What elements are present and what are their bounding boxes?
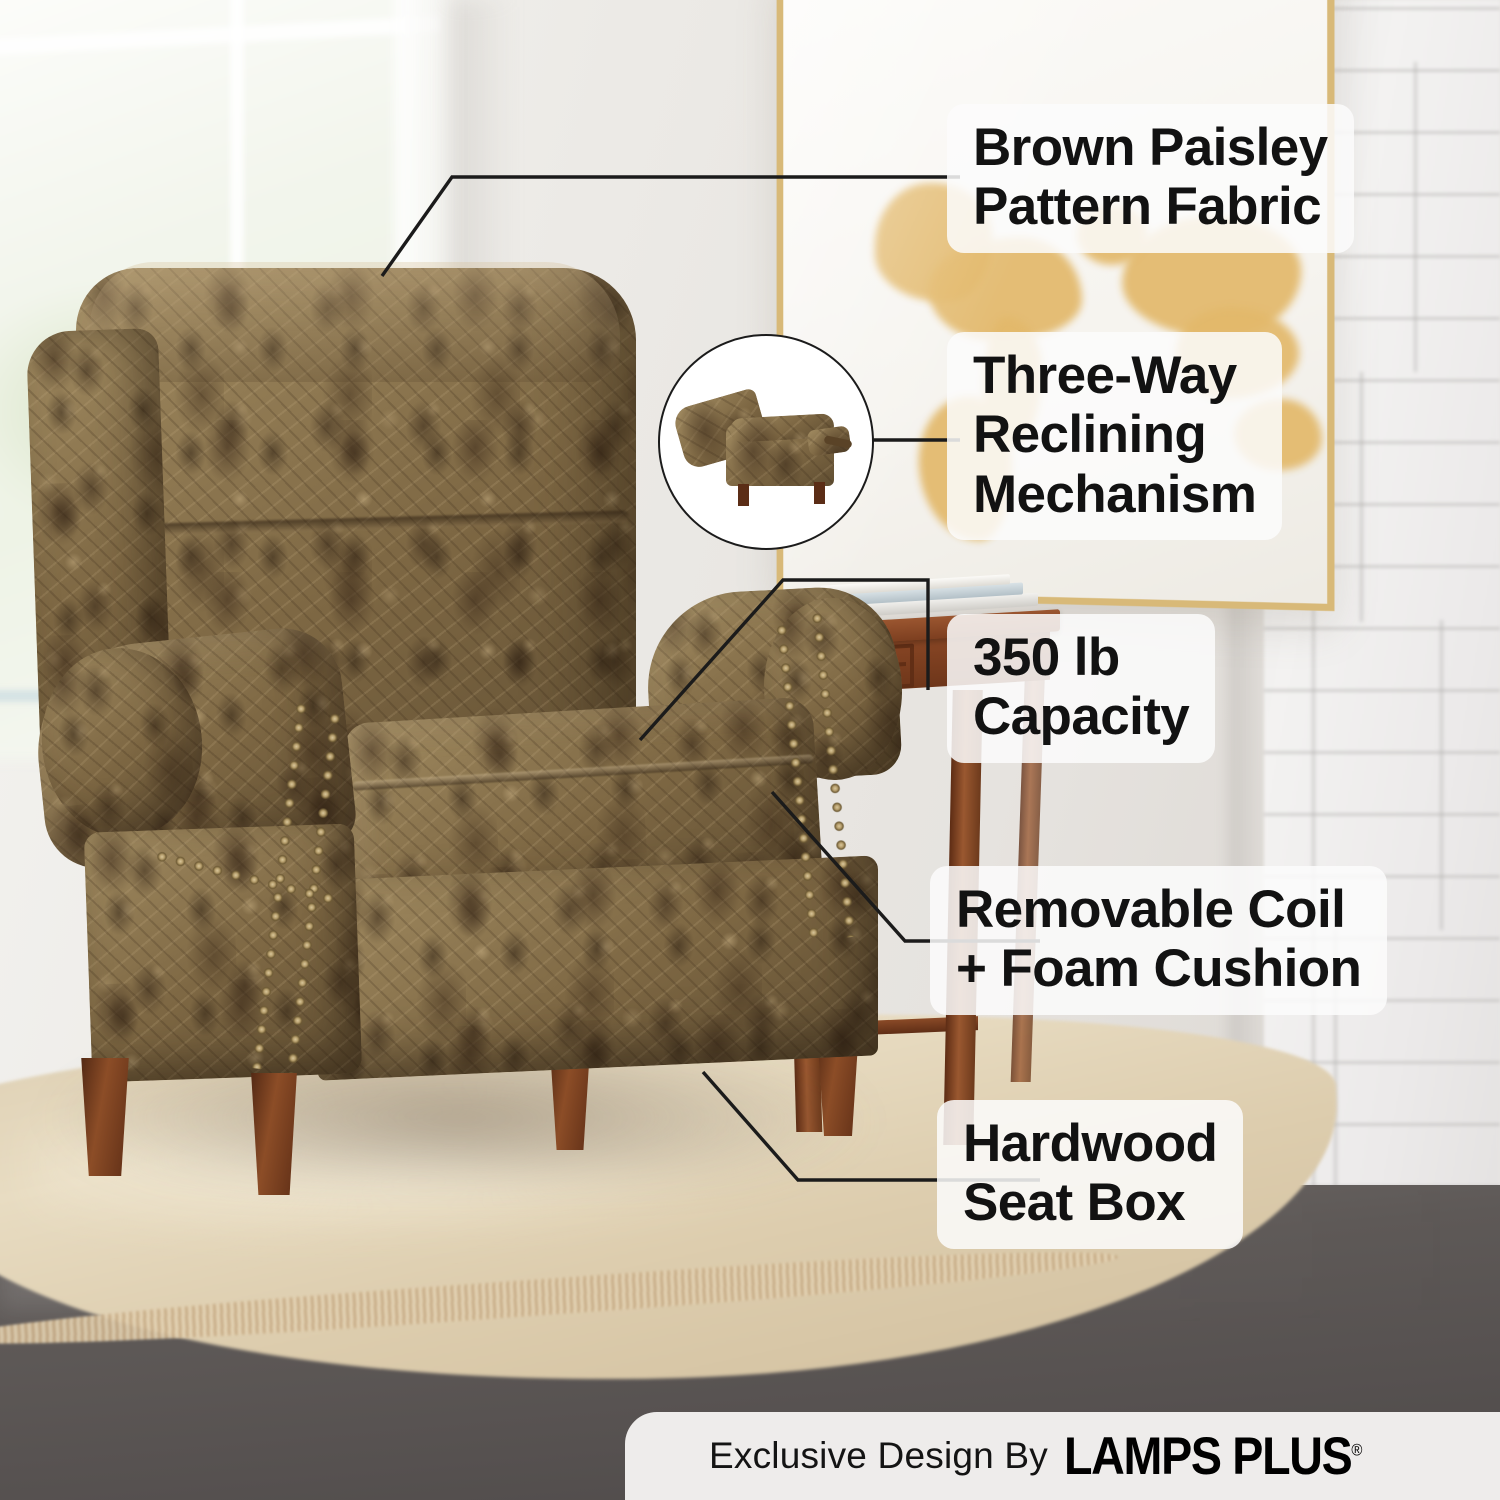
brand-footer-bar: Exclusive Design By LAMPS PLUS® [625, 1412, 1500, 1500]
lamps-plus-logo: LAMPS PLUS® [1064, 1426, 1362, 1487]
callout-capacity: 350 lb Capacity [947, 614, 1215, 763]
footer-prefix-text: Exclusive Design By [709, 1435, 1048, 1477]
lamps-plus-wordmark: LAMPS PLUS [1064, 1427, 1351, 1486]
callout-cushion: Removable Coil + Foam Cushion [930, 866, 1387, 1015]
reclined-chair-illustration [678, 392, 856, 502]
callout-seat-box: Hardwood Seat Box [937, 1100, 1243, 1249]
mini-leg [738, 484, 749, 506]
reclined-chair-inset [658, 334, 874, 550]
mini-leg [814, 482, 825, 504]
chair-seat-box [318, 855, 878, 1080]
callout-fabric: Brown Paisley Pattern Fabric [947, 104, 1354, 253]
registered-trademark-symbol: ® [1351, 1440, 1362, 1459]
callout-reclining-mechanism: Three-Way Reclining Mechanism [947, 332, 1282, 540]
infographic-canvas: Brown Paisley Pattern Fabric Three-Way R… [0, 0, 1500, 1500]
